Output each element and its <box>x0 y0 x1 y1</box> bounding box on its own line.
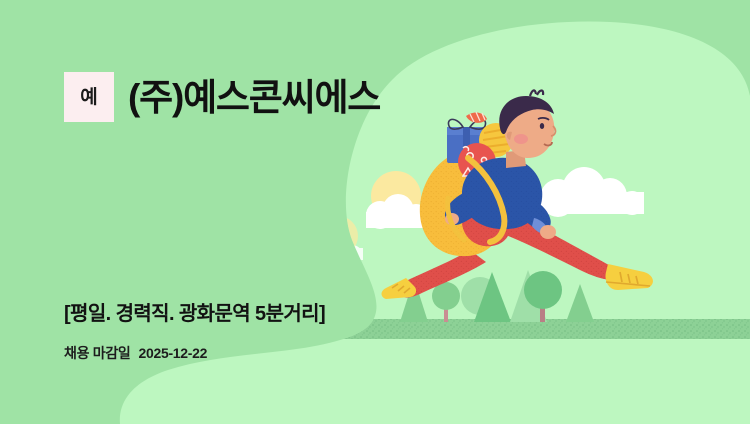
job-tagline: [평일. 경력직. 광화문역 5분거리] <box>64 303 325 326</box>
company-name: (주)예스콘씨에스 <box>128 79 380 116</box>
company-logo-badge: 예 <box>64 72 114 122</box>
job-posting-banner: 예 (주)예스콘씨에스 [평일. 경력직. 광화문역 5분거리] 채용 마감일2… <box>0 0 750 424</box>
deadline-label: 채용 마감일 <box>64 345 131 361</box>
deadline-row: 채용 마감일2025-12-22 <box>64 345 207 362</box>
deadline-date: 2025-12-22 <box>139 345 208 361</box>
text-layer: 예 (주)예스콘씨에스 [평일. 경력직. 광화문역 5분거리] 채용 마감일2… <box>0 0 750 424</box>
company-header: 예 (주)예스콘씨에스 <box>64 72 380 122</box>
